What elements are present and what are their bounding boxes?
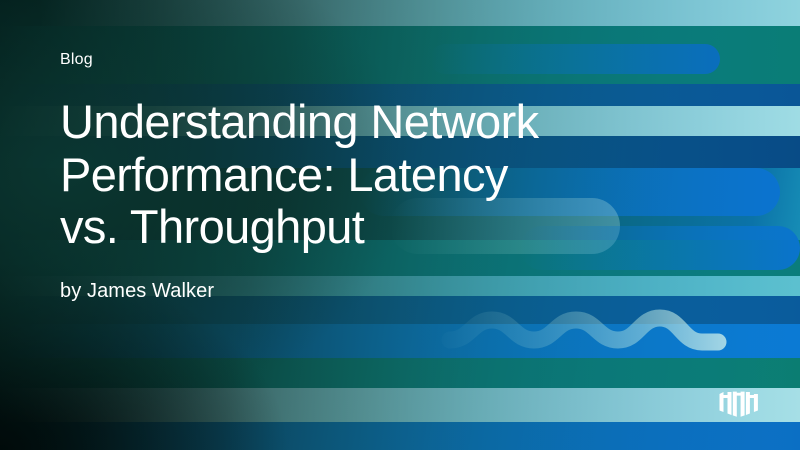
category-label: Blog	[60, 52, 660, 68]
hero-content: Blog Understanding Network Performance: …	[60, 52, 660, 303]
hexagon-bars-logo	[710, 383, 768, 423]
blog-hero-banner: Blog Understanding Network Performance: …	[0, 0, 800, 450]
author-byline: by James Walker	[60, 280, 660, 303]
page-title: Understanding Network Performance: Laten…	[60, 96, 660, 254]
